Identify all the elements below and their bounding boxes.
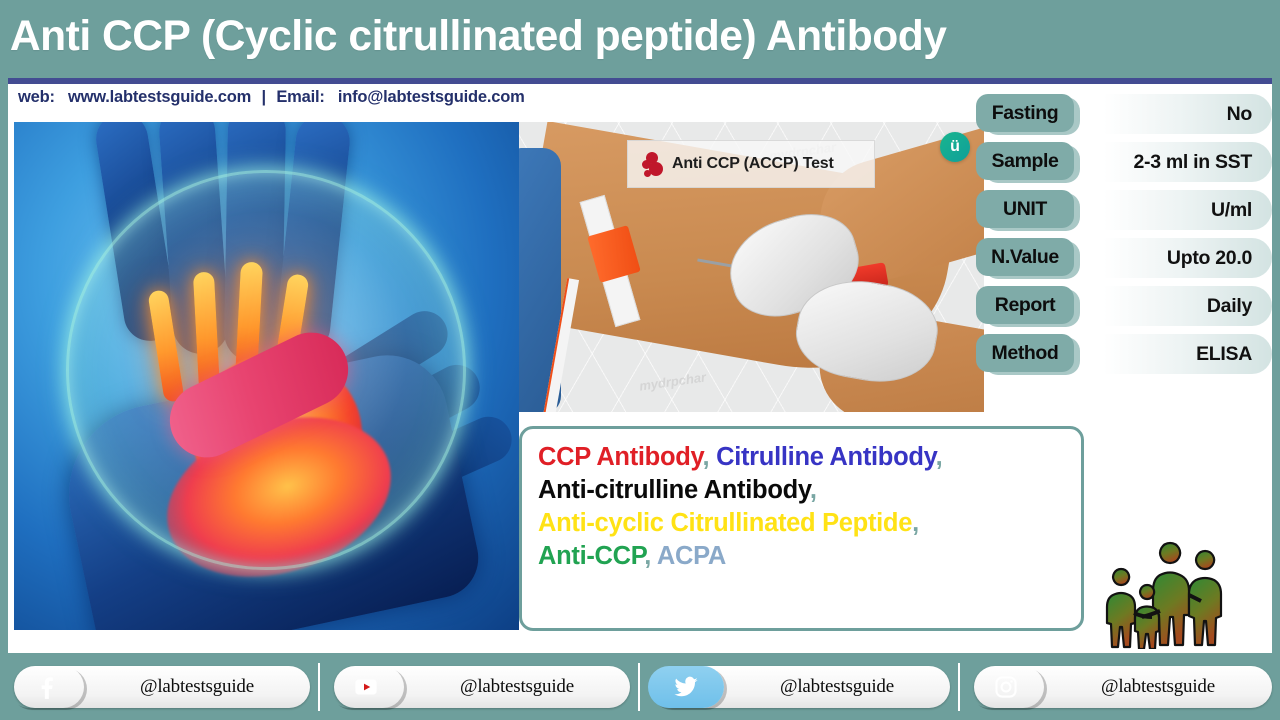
web-url[interactable]: www.labtestsguide.com	[68, 88, 251, 106]
social-segment-youtube[interactable]: @labtestsguide	[320, 663, 640, 711]
synonym-term: ACPA	[657, 542, 726, 570]
twitter-icon[interactable]	[648, 666, 724, 708]
test-info-table: FastingNoSample2-3 ml in SSTUNITU/mlN.Va…	[976, 90, 1272, 378]
info-row: ReportDaily	[976, 282, 1272, 330]
info-row: UNITU/ml	[976, 186, 1272, 234]
social-segment-twitter[interactable]: @labtestsguide	[640, 663, 960, 711]
synonym-line: Anti-CCP, ACPA	[538, 540, 1065, 573]
row-value-method: ELISA	[1080, 343, 1272, 366]
synonym-term: Citrulline Antibody	[716, 443, 936, 471]
synonym-comma: ,	[644, 542, 657, 570]
badge-glyph: ü	[950, 138, 960, 156]
row-label-fasting: Fasting	[976, 94, 1074, 132]
row-label-pill-wrapper: UNIT	[976, 190, 1080, 230]
social-handle-twitter: @labtestsguide	[724, 676, 950, 698]
social-pill-twitter[interactable]: @labtestsguide	[648, 666, 950, 708]
social-pill-facebook[interactable]: @labtestsguide	[8, 666, 310, 708]
social-handle-youtube: @labtestsguide	[404, 676, 630, 698]
social-handle-instagram: @labtestsguide	[1044, 676, 1272, 698]
social-handle-facebook: @labtestsguide	[84, 676, 310, 698]
row-label-pill-wrapper: Report	[976, 286, 1080, 326]
row-label-sample: Sample	[976, 142, 1074, 180]
info-row: Sample2-3 ml in SST	[976, 138, 1272, 186]
rheumatoid-joint-image	[14, 122, 519, 630]
synonym-term: CCP Antibody	[538, 443, 703, 471]
test-card-title: Anti CCP (ACCP) Test	[672, 155, 834, 173]
social-pill-instagram[interactable]: @labtestsguide	[968, 666, 1272, 708]
synonym-comma: ,	[936, 443, 943, 471]
youtube-icon[interactable]	[328, 666, 404, 708]
content-canvas: web: www.labtestsguide.com | Email: info…	[8, 78, 1272, 653]
row-label-pill-wrapper: Sample	[976, 142, 1080, 182]
row-label-pill-wrapper: N.Value	[976, 238, 1080, 278]
contact-line: web: www.labtestsguide.com | Email: info…	[18, 88, 525, 107]
email-address[interactable]: info@labtestsguide.com	[338, 88, 525, 106]
instagram-icon[interactable]	[968, 666, 1044, 708]
row-value-n-value: Upto 20.0	[1080, 247, 1272, 270]
synonym-term: Anti-cyclic Citrullinated Peptide	[538, 509, 912, 537]
row-value-unit: U/ml	[1080, 199, 1272, 222]
row-label-method: Method	[976, 334, 1074, 372]
web-label: web:	[18, 88, 55, 106]
facebook-icon[interactable]	[8, 666, 84, 708]
synonym-comma: ,	[810, 476, 817, 504]
info-row: N.ValueUpto 20.0	[976, 234, 1272, 282]
synonym-line: Anti-cyclic Citrullinated Peptide,	[538, 507, 1065, 540]
page-header: Anti CCP (Cyclic citrullinated peptide) …	[0, 0, 1280, 72]
synonym-comma: ,	[703, 443, 717, 471]
blood-draw-image: mydrpchar mydrpchar mydrpchar mydrpchar …	[519, 122, 984, 412]
synonym-comma: ,	[912, 509, 919, 537]
synonym-line: Anti-citrulline Antibody,	[538, 474, 1065, 507]
contact-separator: |	[256, 88, 272, 106]
info-row: MethodELISA	[976, 330, 1272, 378]
page-title: Anti CCP (Cyclic citrullinated peptide) …	[0, 12, 946, 61]
row-label-n-value: N.Value	[976, 238, 1074, 276]
social-media-bar: @labtestsguide@labtestsguide@labtestsgui…	[0, 653, 1280, 720]
row-label-unit: UNIT	[976, 190, 1074, 228]
navy-accent-strip	[8, 78, 1272, 84]
family-silhouette-graphic	[1094, 529, 1264, 649]
row-value-sample: 2-3 ml in SST	[1080, 151, 1272, 174]
social-pill-youtube[interactable]: @labtestsguide	[328, 666, 630, 708]
row-value-fasting: No	[1080, 103, 1272, 126]
family-silhouette-svg	[1094, 529, 1264, 649]
row-label-report: Report	[976, 286, 1074, 324]
synonym-line: CCP Antibody, Citrulline Antibody,	[538, 441, 1065, 474]
row-label-pill-wrapper: Fasting	[976, 94, 1080, 134]
test-name-card: Anti CCP (ACCP) Test	[627, 140, 875, 188]
infographic-page: Anti CCP (Cyclic citrullinated peptide) …	[0, 0, 1280, 720]
synonym-term: Anti-citrulline Antibody	[538, 476, 810, 504]
synonyms-box: CCP Antibody, Citrulline Antibody,Anti-c…	[519, 426, 1084, 631]
synonym-term: Anti-CCP	[538, 542, 644, 570]
provider-logo-badge: ü	[940, 132, 970, 162]
social-segment-instagram[interactable]: @labtestsguide	[960, 663, 1280, 711]
email-label: Email:	[276, 88, 324, 106]
social-segment-facebook[interactable]: @labtestsguide	[0, 663, 320, 711]
row-label-pill-wrapper: Method	[976, 334, 1080, 374]
blood-drop-icon	[642, 151, 664, 177]
highlight-ring	[66, 170, 466, 570]
info-row: FastingNo	[976, 90, 1272, 138]
row-value-report: Daily	[1080, 295, 1272, 318]
